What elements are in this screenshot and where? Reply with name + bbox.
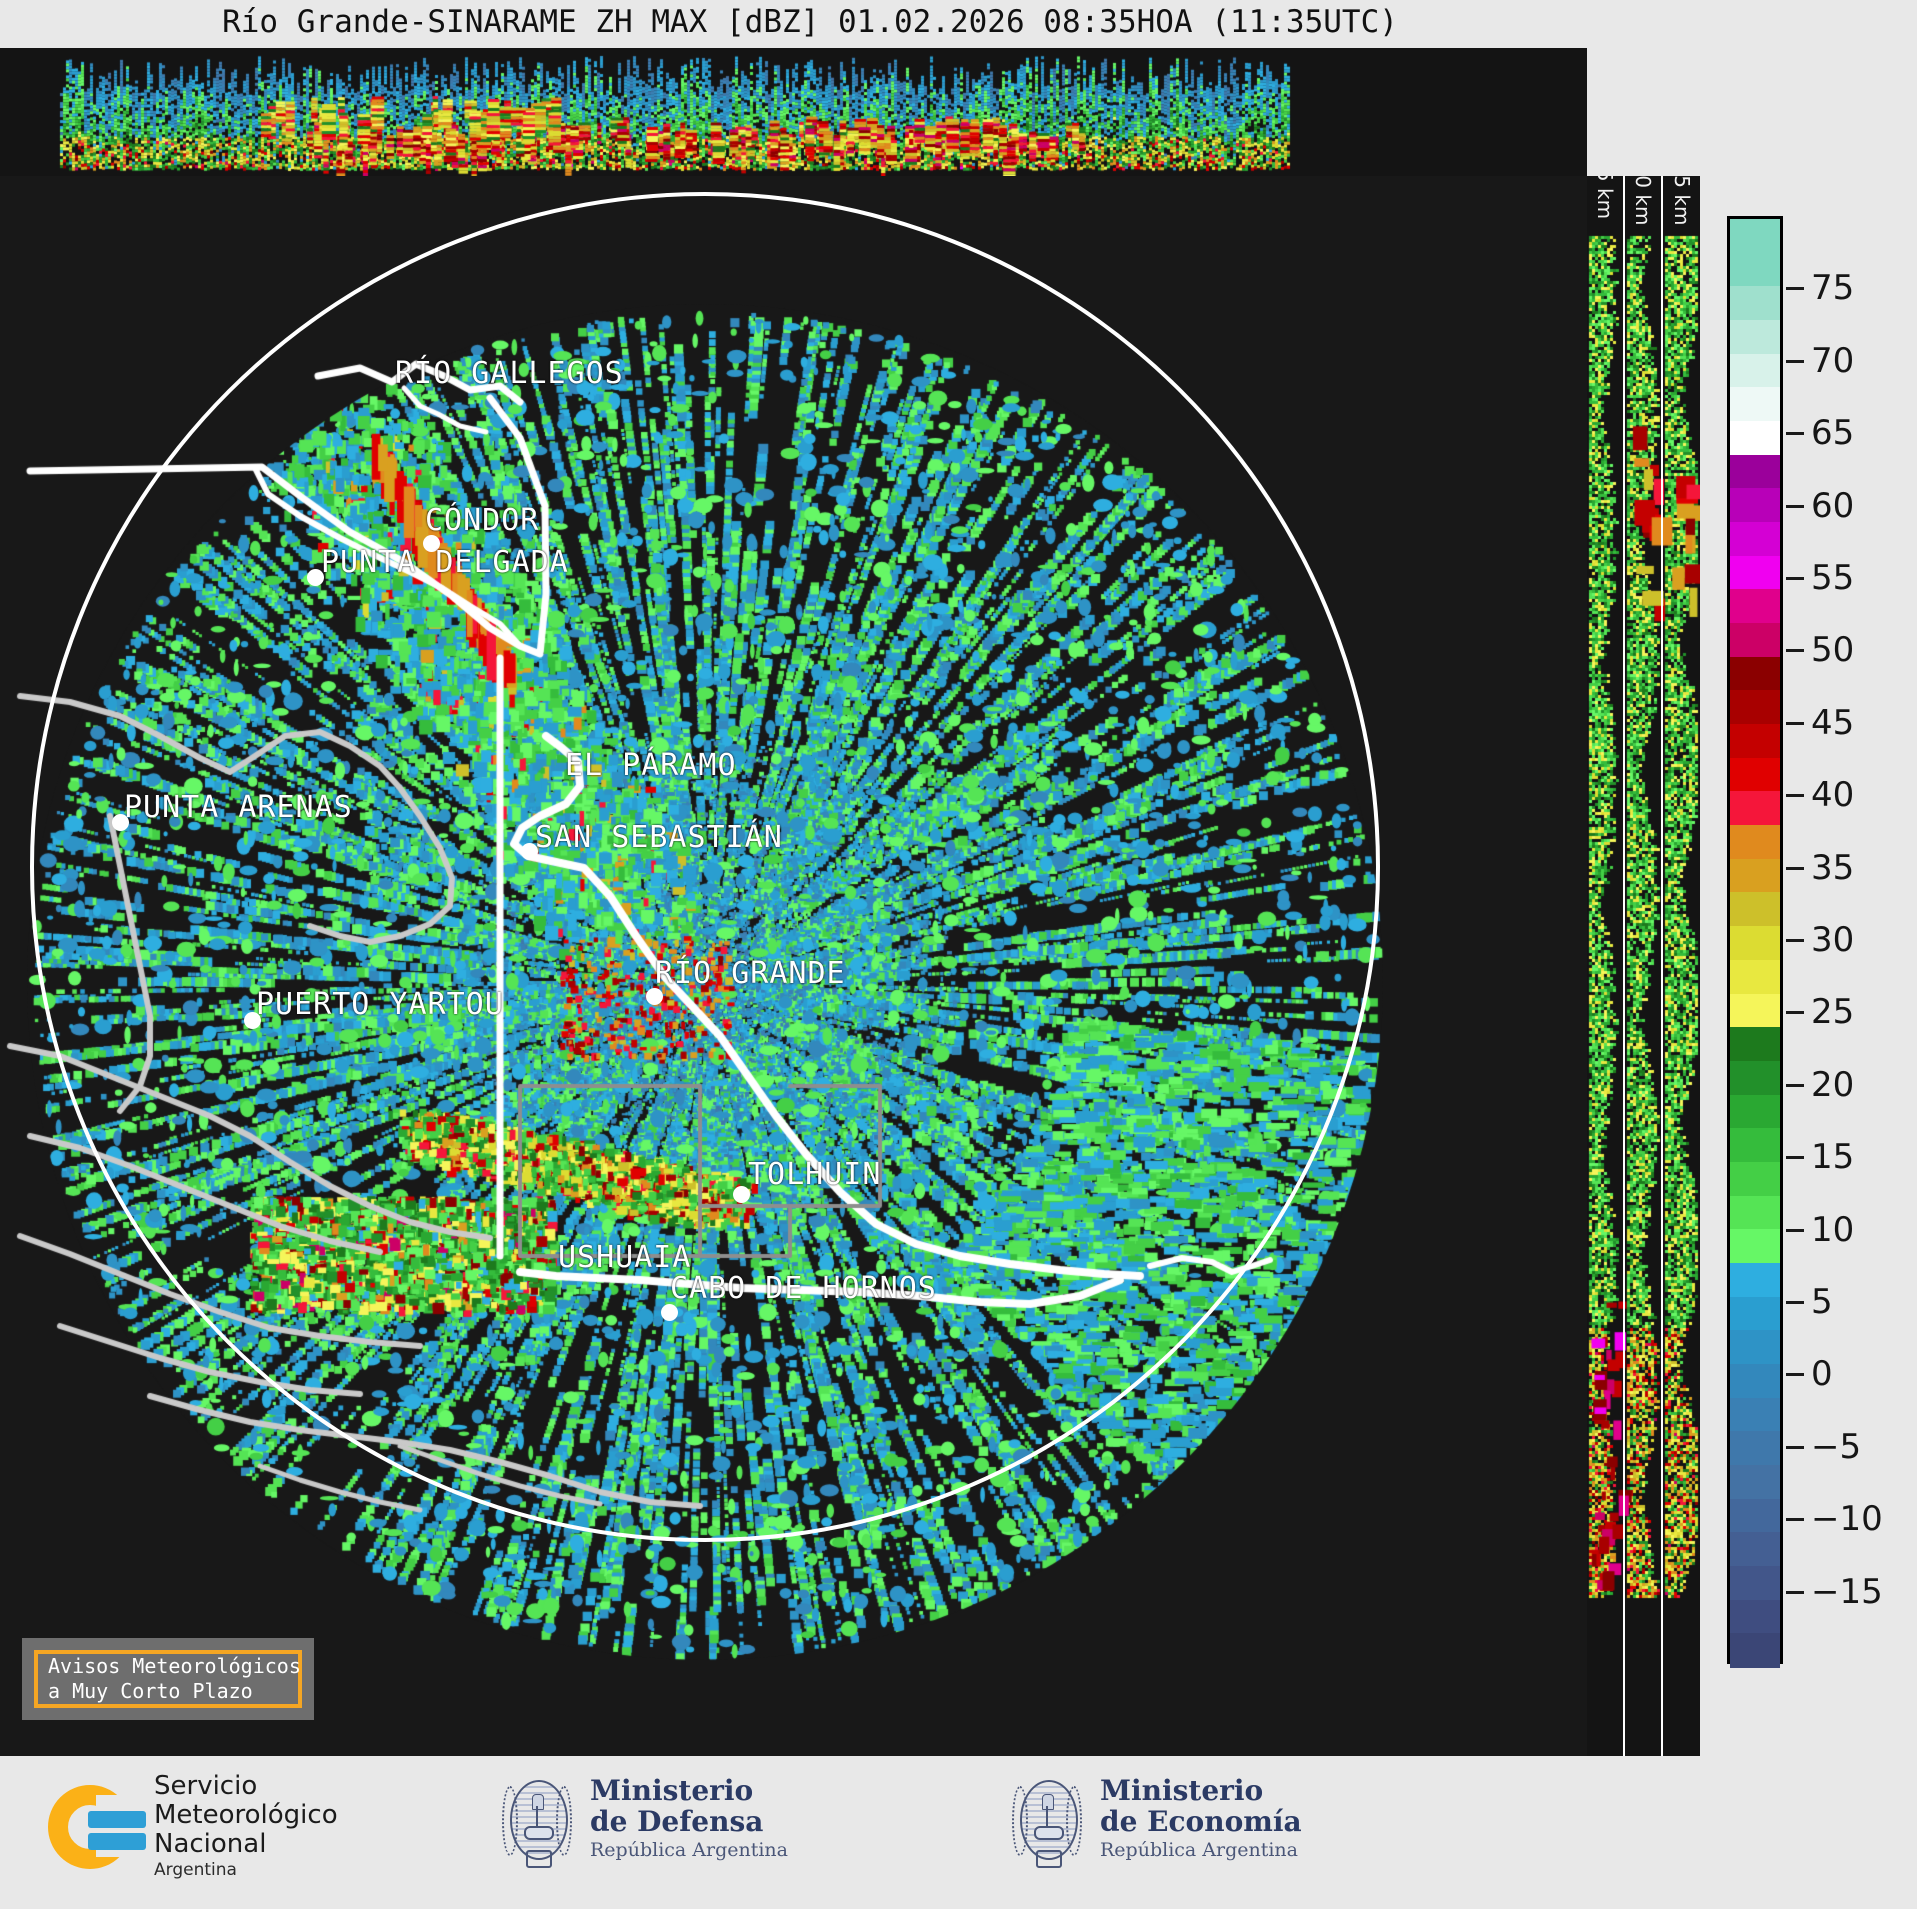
ministry-defensa-logo: Ministerio de Defensa República Argentin… xyxy=(500,1768,788,1870)
ministry-defensa-text: Ministerio de Defensa República Argentin… xyxy=(590,1775,788,1863)
cross-section-top-echoes xyxy=(0,48,1587,176)
colorbar-label-9: 30 xyxy=(1811,920,1854,960)
city-label-0: RÍO GALLEGOS xyxy=(395,356,624,391)
colorbar-segment-5 xyxy=(1730,387,1780,421)
colorbar-segment-10 xyxy=(1730,556,1780,590)
colorbar-segment-20 xyxy=(1730,892,1780,926)
colorbar-segment-21 xyxy=(1730,926,1780,960)
city-label-4: SAN SEBASTIÁN xyxy=(535,820,783,855)
colorbar-segment-13 xyxy=(1730,657,1780,691)
cross-section-right-panel: 5 km 10 km 15 km xyxy=(1587,176,1700,1756)
colorbar-segment-12 xyxy=(1730,623,1780,657)
vband-10km: 10 km xyxy=(1625,176,1661,1756)
colorbar-segment-27 xyxy=(1730,1128,1780,1162)
colorbar-segment-31 xyxy=(1730,1263,1780,1297)
colorbar-label-17: −10 xyxy=(1811,1499,1883,1539)
defensa-line-1: Ministerio xyxy=(590,1775,788,1806)
city-dot-2 xyxy=(307,569,324,586)
colorbar-segment-2 xyxy=(1730,286,1780,320)
warning-line-2: a Muy Corto Plazo xyxy=(48,1679,298,1704)
warning-badge[interactable]: Avisos Meteorológicos a Muy Corto Plazo xyxy=(22,1638,314,1720)
economia-line-3: República Argentina xyxy=(1100,1837,1302,1863)
colorbar-tick-17 xyxy=(1786,1518,1804,1521)
smn-line-1: Servicio xyxy=(154,1772,338,1801)
colorbar-segment-6 xyxy=(1730,421,1780,455)
defensa-line-3: República Argentina xyxy=(590,1837,788,1863)
colorbar-segment-28 xyxy=(1730,1162,1780,1196)
colorbar: 757065605550454035302520151050−5−10−15 xyxy=(1727,216,1791,1664)
colorbar-segment-33 xyxy=(1730,1330,1780,1364)
city-dot-5 xyxy=(112,814,129,831)
colorbar-label-16: −5 xyxy=(1811,1427,1861,1467)
argentina-coat-of-arms-icon xyxy=(500,1768,574,1870)
colorbar-segment-30 xyxy=(1730,1229,1780,1263)
city-label-2: PUNTA DELGADA xyxy=(321,545,569,580)
colorbar-tick-2 xyxy=(1786,432,1804,435)
colorbar-label-8: 35 xyxy=(1811,848,1854,888)
colorbar-tick-16 xyxy=(1786,1446,1804,1449)
colorbar-tick-0 xyxy=(1786,287,1804,290)
city-label-10: CABO DE HORNOS xyxy=(670,1271,937,1306)
colorbar-label-7: 40 xyxy=(1811,775,1854,815)
colorbar-segment-32 xyxy=(1730,1297,1780,1331)
city-label-3: EL PÁRAMO xyxy=(565,748,737,783)
warning-badge-inner: Avisos Meteorológicos a Muy Corto Plazo xyxy=(34,1650,302,1708)
footer-logos: Servicio Meteorológico Nacional Argentin… xyxy=(0,1760,1917,1909)
economia-line-2: de Economía xyxy=(1100,1806,1302,1837)
colorbar-tick-11 xyxy=(1786,1084,1804,1087)
colorbar-segment-36 xyxy=(1730,1431,1780,1465)
colorbar-segment-17 xyxy=(1730,791,1780,825)
radar-ppi-panel[interactable]: RÍO GALLEGOSCÓNDORPUNTA DELGADAEL PÁRAMO… xyxy=(0,176,1587,1756)
colorbar-label-12: 15 xyxy=(1811,1137,1854,1177)
argentina-coat-of-arms-icon-2 xyxy=(1010,1768,1084,1870)
colorbar-label-1: 70 xyxy=(1811,341,1854,381)
smn-logo: Servicio Meteorológico Nacional Argentin… xyxy=(48,1772,338,1881)
vlabel-10km: 10 km xyxy=(1631,176,1655,225)
colorbar-tick-3 xyxy=(1786,505,1804,508)
economia-line-1: Ministerio xyxy=(1100,1775,1302,1806)
city-label-9: USHUAIA xyxy=(558,1240,691,1275)
colorbar-segment-3 xyxy=(1730,320,1780,354)
colorbar-label-11: 20 xyxy=(1811,1065,1854,1105)
colorbar-segment-11 xyxy=(1730,589,1780,623)
colorbar-label-5: 50 xyxy=(1811,630,1854,670)
colorbar-tick-15 xyxy=(1786,1373,1804,1376)
city-dot-7 xyxy=(646,988,663,1005)
city-dot-10 xyxy=(661,1304,678,1321)
colorbar-segment-39 xyxy=(1730,1532,1780,1566)
colorbar-tick-10 xyxy=(1786,1011,1804,1014)
colorbar-segment-8 xyxy=(1730,488,1780,522)
colorbar-segment-42 xyxy=(1730,1633,1780,1667)
colorbar-label-10: 25 xyxy=(1811,992,1854,1032)
smn-line-2: Meteorológico xyxy=(154,1801,338,1830)
colorbar-segment-9 xyxy=(1730,522,1780,556)
colorbar-segment-24 xyxy=(1730,1027,1780,1061)
colorbar-label-18: −15 xyxy=(1811,1572,1883,1612)
vseparator-1 xyxy=(1623,176,1625,1756)
colorbar-tick-1 xyxy=(1786,360,1804,363)
city-label-5: PUNTA ARENAS xyxy=(124,790,353,825)
warning-line-1: Avisos Meteorológicos xyxy=(48,1654,298,1679)
smn-logo-icon xyxy=(48,1781,140,1873)
colorbar-segment-0 xyxy=(1730,219,1780,253)
colorbar-segment-23 xyxy=(1730,994,1780,1028)
colorbar-segment-41 xyxy=(1730,1600,1780,1634)
smn-logo-text: Servicio Meteorológico Nacional Argentin… xyxy=(154,1772,338,1881)
colorbar-tick-13 xyxy=(1786,1229,1804,1232)
colorbar-label-14: 5 xyxy=(1811,1282,1833,1322)
colorbar-segment-18 xyxy=(1730,825,1780,859)
colorbar-label-15: 0 xyxy=(1811,1354,1833,1394)
colorbar-label-13: 10 xyxy=(1811,1210,1854,1250)
colorbar-label-2: 65 xyxy=(1811,413,1854,453)
colorbar-segment-26 xyxy=(1730,1095,1780,1129)
colorbar-label-6: 45 xyxy=(1811,703,1854,743)
colorbar-tick-7 xyxy=(1786,794,1804,797)
city-dot-8 xyxy=(733,1186,750,1203)
city-label-8: TOLHUIN xyxy=(748,1157,881,1192)
colorbar-label-4: 55 xyxy=(1811,558,1854,598)
colorbar-segment-19 xyxy=(1730,859,1780,893)
colorbar-segment-34 xyxy=(1730,1364,1780,1398)
colorbar-tick-8 xyxy=(1786,867,1804,870)
city-label-1: CÓNDOR xyxy=(425,503,539,538)
ministry-economia-logo: Ministerio de Economía República Argenti… xyxy=(1010,1768,1302,1870)
colorbar-gradient xyxy=(1727,216,1783,1664)
colorbar-segment-1 xyxy=(1730,253,1780,287)
city-label-7: RÍO GRANDE xyxy=(655,956,846,991)
vlabel-15km: 15 km xyxy=(1670,176,1694,225)
colorbar-label-0: 75 xyxy=(1811,268,1854,308)
vseparator-2 xyxy=(1661,176,1663,1756)
colorbar-segment-40 xyxy=(1730,1566,1780,1600)
colorbar-tick-12 xyxy=(1786,1156,1804,1159)
colorbar-tick-4 xyxy=(1786,577,1804,580)
colorbar-segment-4 xyxy=(1730,354,1780,388)
vband-15km: 15 km xyxy=(1663,176,1700,1756)
colorbar-tick-18 xyxy=(1786,1591,1804,1594)
colorbar-segment-15 xyxy=(1730,724,1780,758)
colorbar-tick-5 xyxy=(1786,649,1804,652)
colorbar-tick-9 xyxy=(1786,939,1804,942)
colorbar-segment-37 xyxy=(1730,1465,1780,1499)
colorbar-segment-38 xyxy=(1730,1499,1780,1533)
smn-line-3: Nacional xyxy=(154,1830,338,1859)
colorbar-segment-29 xyxy=(1730,1196,1780,1230)
cross-section-top-panel: 15 km 10 km 5 km xyxy=(0,48,1587,176)
colorbar-segment-25 xyxy=(1730,1061,1780,1095)
colorbar-tick-14 xyxy=(1786,1301,1804,1304)
radar-range-ring xyxy=(30,192,1380,1542)
page-title: Río Grande-SINARAME ZH MAX [dBZ] 01.02.2… xyxy=(0,4,1620,40)
smn-line-4: Argentina xyxy=(154,1859,338,1881)
colorbar-segment-16 xyxy=(1730,758,1780,792)
city-label-6: PUERTO YARTOU xyxy=(256,987,504,1022)
defensa-line-2: de Defensa xyxy=(590,1806,788,1837)
vband-5km: 5 km xyxy=(1587,176,1623,1756)
city-dot-6 xyxy=(244,1012,261,1029)
colorbar-label-3: 60 xyxy=(1811,486,1854,526)
city-dot-4 xyxy=(521,843,538,860)
colorbar-tick-6 xyxy=(1786,722,1804,725)
colorbar-segment-14 xyxy=(1730,690,1780,724)
colorbar-segment-7 xyxy=(1730,455,1780,489)
colorbar-segment-35 xyxy=(1730,1398,1780,1432)
ministry-economia-text: Ministerio de Economía República Argenti… xyxy=(1100,1775,1302,1863)
vlabel-5km: 5 km xyxy=(1593,176,1617,219)
colorbar-segment-22 xyxy=(1730,960,1780,994)
